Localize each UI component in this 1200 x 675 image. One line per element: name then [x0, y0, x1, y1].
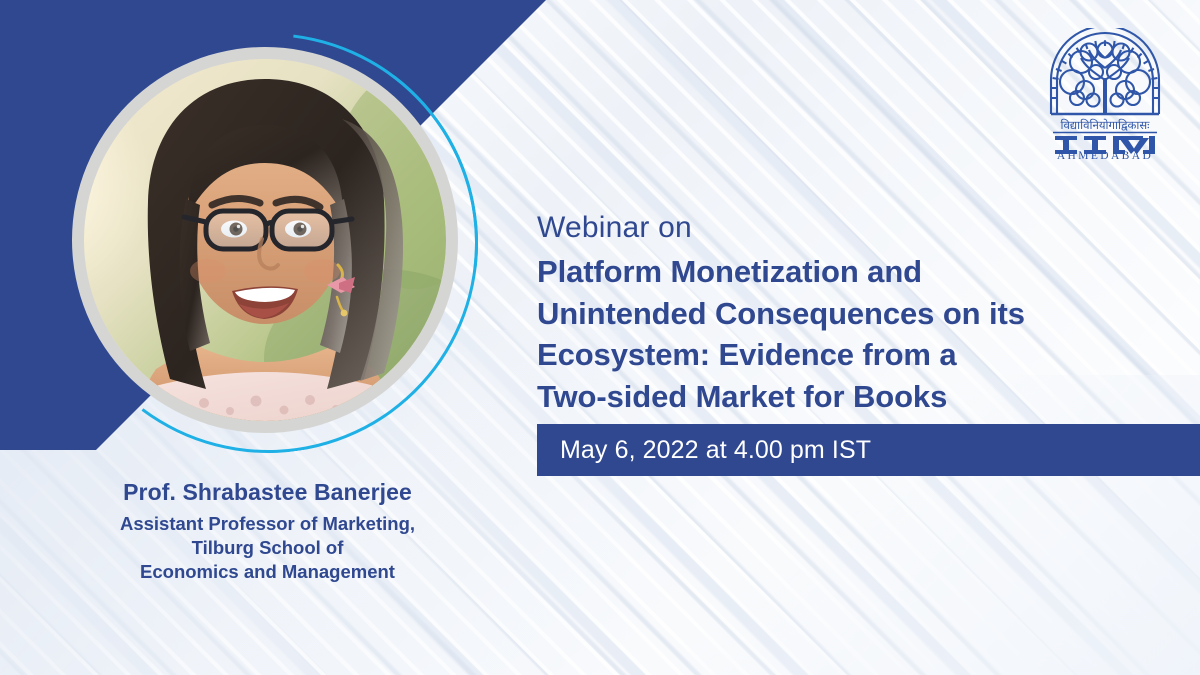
logo-motto-sanskrit: विद्याविनियोगाद्विकासः — [1061, 118, 1151, 132]
webinar-poster: Prof. Shrabastee Banerjee Assistant Prof… — [0, 0, 1200, 675]
speaker-name: Prof. Shrabastee Banerjee — [30, 478, 505, 507]
webinar-title: Platform Monetization and Unintended Con… — [537, 251, 1162, 417]
avatar-ring — [72, 47, 458, 433]
webinar-title-line-2: Unintended Consequences on its — [537, 293, 1162, 335]
webinar-title-line-3: Ecosystem: Evidence from a — [537, 334, 1162, 376]
speaker-affiliation-line-1: Assistant Professor of Marketing, — [30, 512, 505, 536]
speaker-affiliation-line-2: Tilburg School of — [30, 536, 505, 560]
event-kicker: Webinar on — [537, 211, 692, 245]
speaker-affiliation-line-3: Economics and Management — [30, 560, 505, 584]
institution-logo-icon: विद्याविनियोगाद्विकासः — [1035, 28, 1175, 160]
iim-ahmedabad-logo: विद्याविनियोगाद्विकासः — [1035, 28, 1175, 160]
logo-institution-name: AHMEDABAD — [1057, 150, 1153, 160]
speaker-details: Prof. Shrabastee Banerjee Assistant Prof… — [30, 478, 505, 584]
webinar-title-line-4: Two-sided Market for Books — [537, 376, 1162, 418]
event-datetime-text: May 6, 2022 at 4.00 pm IST — [537, 436, 871, 465]
webinar-title-line-1: Platform Monetization and — [537, 251, 1162, 293]
event-datetime-banner: May 6, 2022 at 4.00 pm IST — [537, 424, 1200, 476]
background-wash-lower-right — [680, 375, 1200, 675]
avatar — [84, 59, 446, 421]
speaker-photo-illustration — [84, 59, 446, 421]
